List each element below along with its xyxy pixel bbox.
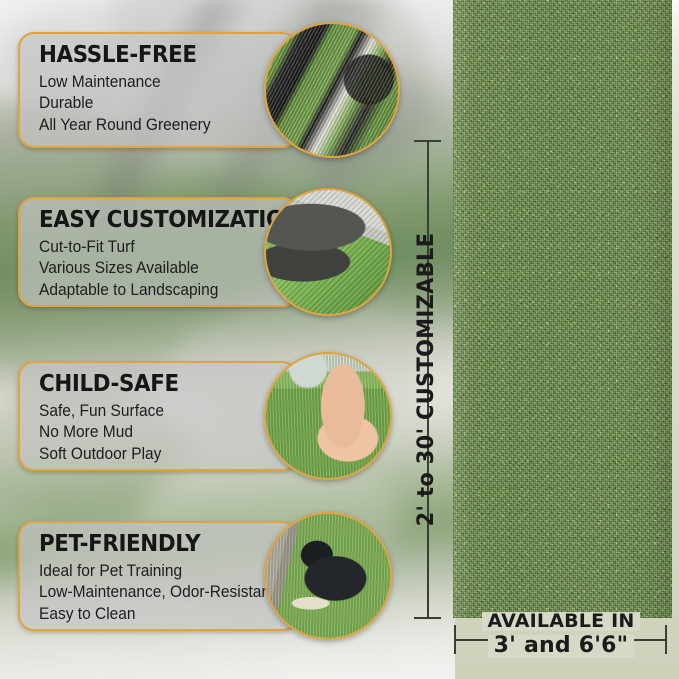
feature-bullet: Easy to Clean: [39, 604, 281, 625]
feature-bullet: Soft Outdoor Play: [39, 444, 281, 465]
feature-photo-rolled-turf: [264, 22, 400, 158]
feature-bullet: Low Maintenance: [39, 72, 281, 93]
feature-photo-gloved-hands: [264, 188, 392, 316]
feature-card-pet-friendly: PET-FRIENDLY Ideal for Pet Training Low-…: [18, 521, 298, 631]
feature-bullet-list: Ideal for Pet Training Low-Maintenance, …: [39, 561, 296, 625]
feature-title: EASY CUSTOMIZATION: [39, 208, 278, 234]
feature-card-easy-customization: EASY CUSTOMIZATION Cut-to-Fit Turf Vario…: [18, 197, 298, 307]
feature-bullet: Cut-to-Fit Turf: [39, 237, 281, 258]
feature-bullet: Adaptable to Landscaping: [39, 280, 281, 301]
feature-bullet: Various Sizes Available: [39, 258, 281, 279]
feature-bullet-list: Cut-to-Fit Turf Various Sizes Available …: [39, 237, 296, 301]
feature-bullet: Durable: [39, 93, 281, 114]
length-dimension-cap-bottom: [414, 617, 441, 619]
dog-lying-on-lawn-photo: [266, 514, 390, 638]
feature-bullet: Safe, Fun Surface: [39, 401, 281, 422]
product-infographic: HASSLE-FREE Low Maintenance Durable All …: [0, 0, 679, 679]
feature-photo-dog-on-lawn: [264, 512, 392, 640]
feature-title: CHILD-SAFE: [39, 372, 278, 398]
feature-title: HASSLE-FREE: [39, 43, 278, 69]
feature-bullet: Low-Maintenance, Odor-Resistant: [39, 582, 281, 603]
feature-card-child-safe: CHILD-SAFE Safe, Fun Surface No More Mud…: [18, 361, 298, 471]
width-dimension-label: AVAILABLE IN 3' and 6'6": [455, 612, 667, 658]
feature-bullet-list: Low Maintenance Durable All Year Round G…: [39, 72, 296, 136]
length-dimension-label: 2' to 30' CUSTOMIZABLE: [391, 162, 463, 596]
feature-photo-child-hand: [264, 352, 392, 480]
length-dimension-text: 2' to 30' CUSTOMIZABLE: [415, 232, 440, 526]
feature-bullet: No More Mud: [39, 422, 281, 443]
feature-card-hassle-free: HASSLE-FREE Low Maintenance Durable All …: [18, 32, 298, 148]
feature-bullet-list: Safe, Fun Surface No More Mud Soft Outdo…: [39, 401, 296, 465]
rolled-artificial-turf-photo: [266, 24, 398, 156]
width-dimension-value: 3' and 6'6": [488, 635, 635, 657]
feature-bullet: All Year Round Greenery: [39, 115, 281, 136]
turf-edge-shading: [453, 0, 672, 618]
child-hand-on-grass-photo: [266, 354, 390, 478]
feature-title: PET-FRIENDLY: [39, 532, 278, 558]
width-dimension-caption: AVAILABLE IN: [482, 612, 641, 631]
gloved-hands-rolling-turf-photo: [266, 190, 390, 314]
turf-strip-image: [453, 0, 672, 618]
feature-bullet: Ideal for Pet Training: [39, 561, 281, 582]
